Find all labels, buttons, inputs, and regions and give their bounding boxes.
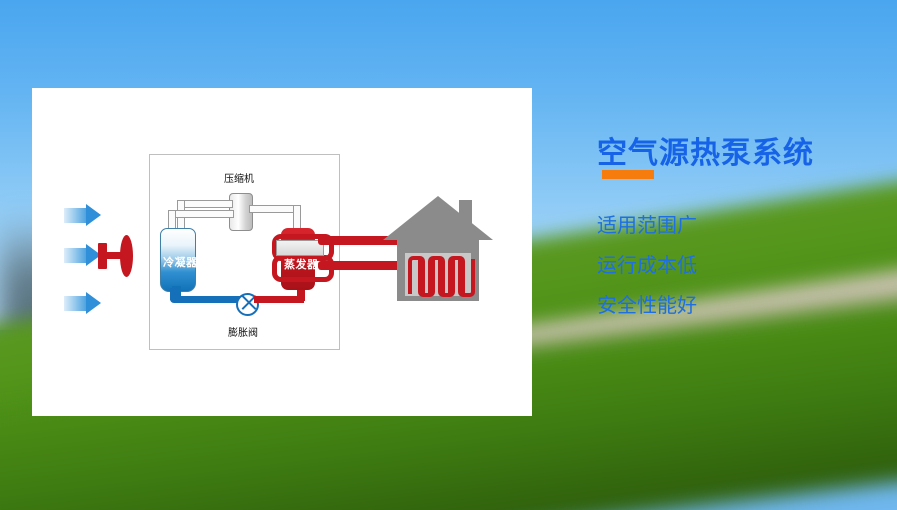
floor-heating-panel <box>405 253 471 296</box>
title-underline <box>602 170 654 179</box>
fan-blade <box>120 235 133 277</box>
condenser-label: 冷凝器 <box>163 258 198 269</box>
roof <box>383 196 493 240</box>
liquid-line-horizontal <box>170 296 240 303</box>
evaporator-plate <box>276 240 324 256</box>
slide: 压缩机 冷凝器 膨胀阀 蒸发器 <box>0 0 897 510</box>
feature-item-1: 适用范围广 <box>597 209 697 238</box>
feature-item-3: 安全性能好 <box>597 289 697 318</box>
page-title: 空气源热泵系统 <box>597 128 814 172</box>
feature-item-2: 运行成本低 <box>597 249 697 278</box>
gas-pipe-top-left-2 <box>168 210 234 218</box>
house-illustration <box>383 196 493 301</box>
gas-pipe-top-left <box>177 200 233 208</box>
liquid-line-vertical <box>170 288 177 300</box>
expansion-valve-label: 膨胀阀 <box>228 328 258 339</box>
compressor-label: 压缩机 <box>224 174 254 185</box>
evaporator-label: 蒸发器 <box>284 260 319 271</box>
